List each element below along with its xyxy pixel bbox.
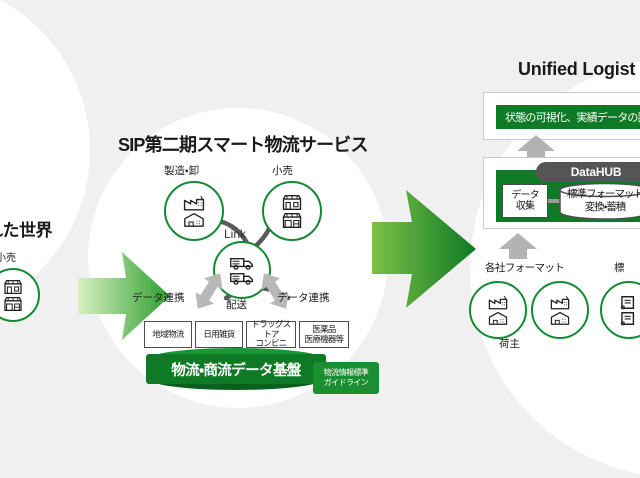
data-link-label-left: データ連携: [132, 293, 185, 305]
green-arrow-middle-to-right: [372, 186, 480, 312]
data-link-label-right: データ連携: [277, 293, 330, 305]
visualization-band: 状態の可視化、実績データの認: [496, 105, 640, 129]
left-retail-label: 小売: [0, 253, 16, 264]
manufacturing-label: 製造・卸: [164, 166, 199, 178]
middle-panel-title: SIP第二期スマート物流サービス: [118, 136, 368, 156]
category-box-line: ドラッグストア: [249, 320, 293, 339]
middle-retail-label: 小売: [272, 166, 293, 178]
shipper-label: 荷主: [499, 339, 520, 351]
category-box-line: コンビニ: [255, 339, 286, 349]
shop-icon: [281, 194, 303, 211]
factory-icon: [549, 295, 571, 310]
category-box[interactable]: ドラッグストアコンビニ: [246, 321, 296, 348]
category-box[interactable]: 医薬品医療機器等: [299, 321, 349, 348]
gray-arrow-up-to-datahub: [498, 232, 538, 260]
manufacturing-node[interactable]: [164, 181, 224, 241]
category-box-line: 日用雑貨: [203, 330, 234, 340]
right-panel-title: Unified Logist: [518, 60, 635, 80]
data-link-arrow-left: [196, 269, 222, 313]
diagram-canvas: れた世界 小売 SIP第二期スマート物流サービス 製造・卸: [0, 0, 640, 450]
left-panel-title: れた世界: [0, 222, 52, 241]
middle-retail-node[interactable]: [262, 181, 322, 241]
data-collection-line: データ: [511, 190, 539, 202]
data-collection-line: 収集: [516, 201, 534, 213]
shipper-node-1[interactable]: [469, 281, 527, 339]
document-icon: [619, 295, 639, 310]
category-box-row: 地域物流日用雑貨ドラッグストアコンビニ医薬品医療機器等: [144, 321, 349, 348]
factory-icon: [487, 295, 509, 310]
shop-icon: [3, 279, 23, 295]
category-box[interactable]: 地域物流: [144, 321, 192, 348]
data-store-label: 標準フォーマット変換・蓄積: [559, 188, 640, 213]
guideline-line: 物流情報標準: [324, 368, 368, 378]
category-box-line: 地域物流: [152, 330, 183, 340]
datahub-pill: DataHUB: [536, 162, 640, 182]
guideline-badge[interactable]: 物流情報標準ガイドライン: [313, 362, 379, 394]
factory-icon: [182, 195, 206, 211]
link-label: Link: [224, 228, 246, 241]
company-format-label: 各社フォーマット: [485, 263, 564, 275]
category-box[interactable]: 日用雑貨: [195, 321, 243, 348]
data-collection-box: データ収集: [502, 184, 548, 218]
document-icon: [619, 311, 639, 326]
warehouse-icon: [182, 212, 206, 227]
shop-icon: [281, 212, 303, 229]
warehouse-icon: [487, 311, 509, 325]
data-link-arrow-right: [262, 269, 288, 313]
platform-band: 物流・商流データ基盤: [146, 354, 326, 384]
guideline-line: ガイドライン: [324, 378, 368, 388]
warehouse-icon: [549, 311, 571, 325]
shipper-node-2[interactable]: [531, 281, 589, 339]
data-store-line: 標準フォーマット: [559, 188, 640, 201]
shop-icon: [3, 296, 23, 312]
category-box-line: 医療機器等: [304, 335, 343, 345]
truck-icon: [229, 271, 255, 285]
delivery-label: 配送: [226, 300, 247, 312]
company-format-label-right: 標: [614, 263, 624, 275]
truck-icon: [229, 256, 255, 270]
data-store-line: 変換・蓄積: [559, 201, 640, 214]
